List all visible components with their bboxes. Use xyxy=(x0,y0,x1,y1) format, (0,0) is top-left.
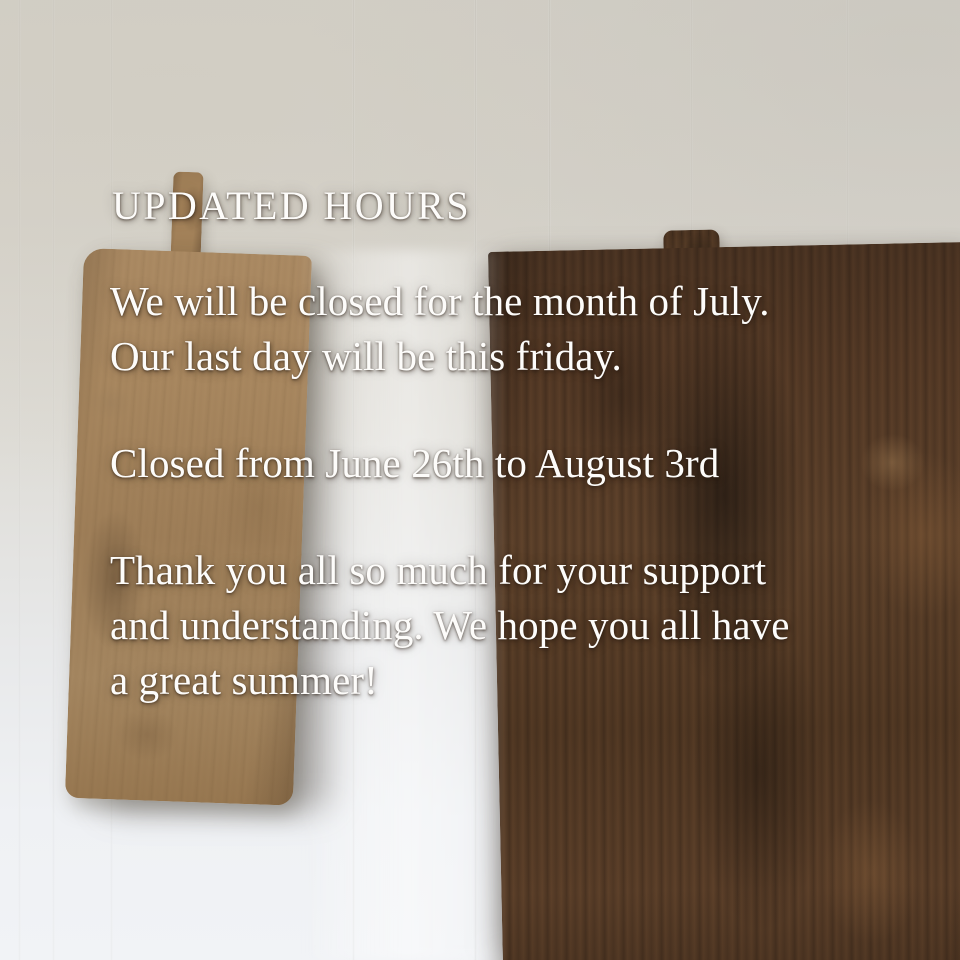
paragraph-line: Our last day will be this friday. xyxy=(110,329,950,384)
paragraph-line: Thank you all so much for your support xyxy=(110,543,950,598)
text-overlay: UPDATED HOURS We will be closed for the … xyxy=(110,186,950,708)
paragraph-line: We will be closed for the month of July. xyxy=(110,274,950,329)
paragraph-line: Closed from June 26th to August 3rd xyxy=(110,436,950,491)
paragraph-line: and understanding. We hope you all have xyxy=(110,598,950,653)
paragraph-line: a great summer! xyxy=(110,653,950,708)
paragraph-thank-you-note: Thank you all so much for your support a… xyxy=(110,543,950,708)
paragraph-closure-dates: Closed from June 26th to August 3rd xyxy=(110,436,950,491)
paragraph-closure-notice: We will be closed for the month of July.… xyxy=(110,274,950,384)
announcement-image: UPDATED HOURS We will be closed for the … xyxy=(0,0,960,960)
page-title: UPDATED HOURS xyxy=(112,186,950,226)
wall-seam-1 xyxy=(18,0,21,960)
wall-seam-2 xyxy=(52,0,55,960)
